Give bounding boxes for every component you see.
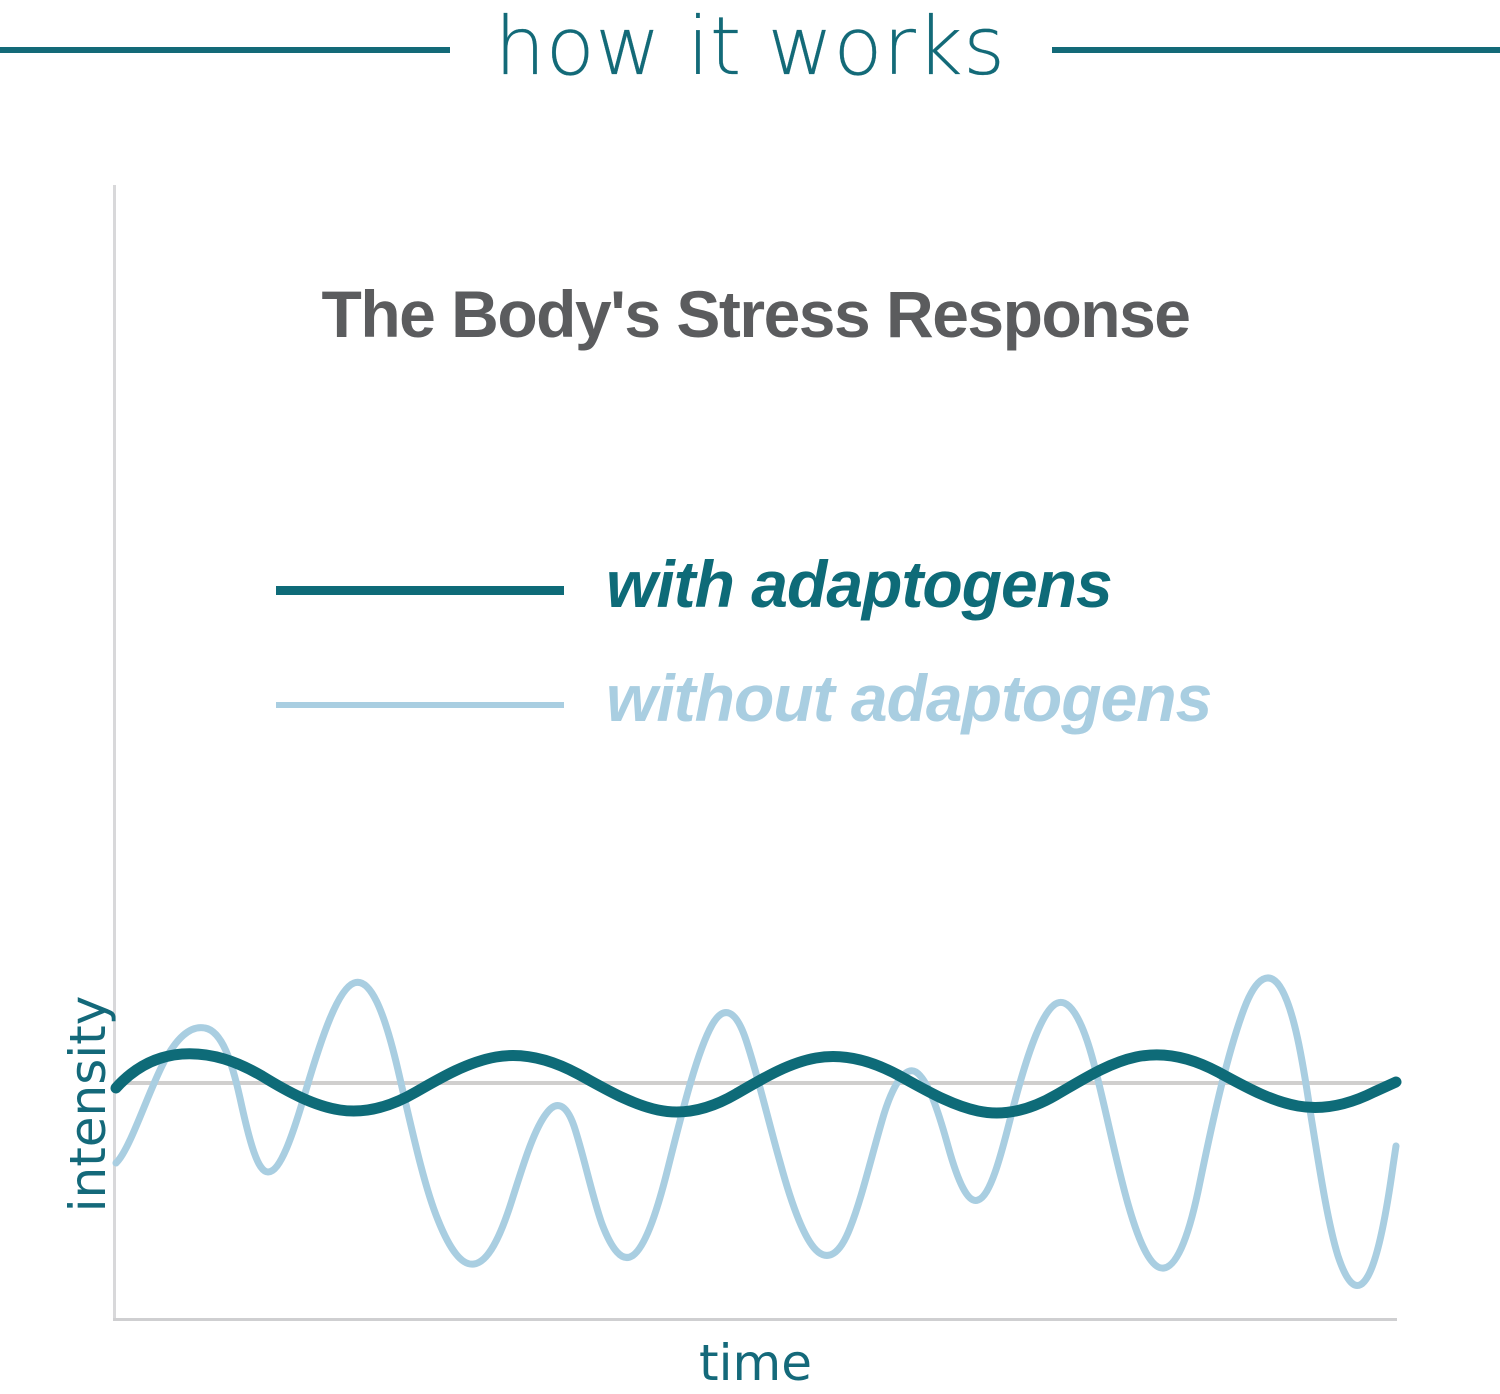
chart-panel: The Body's Stress Response with adaptoge… — [0, 110, 1500, 1386]
plot-area: intensity time — [0, 110, 1500, 1386]
page-title: how it works — [0, 0, 1500, 98]
page-title-text: how it works — [481, 0, 1020, 98]
page-header: how it works — [0, 0, 1500, 110]
stress-response-curves — [0, 110, 1500, 1386]
curve-without-adaptogens — [116, 978, 1396, 1286]
